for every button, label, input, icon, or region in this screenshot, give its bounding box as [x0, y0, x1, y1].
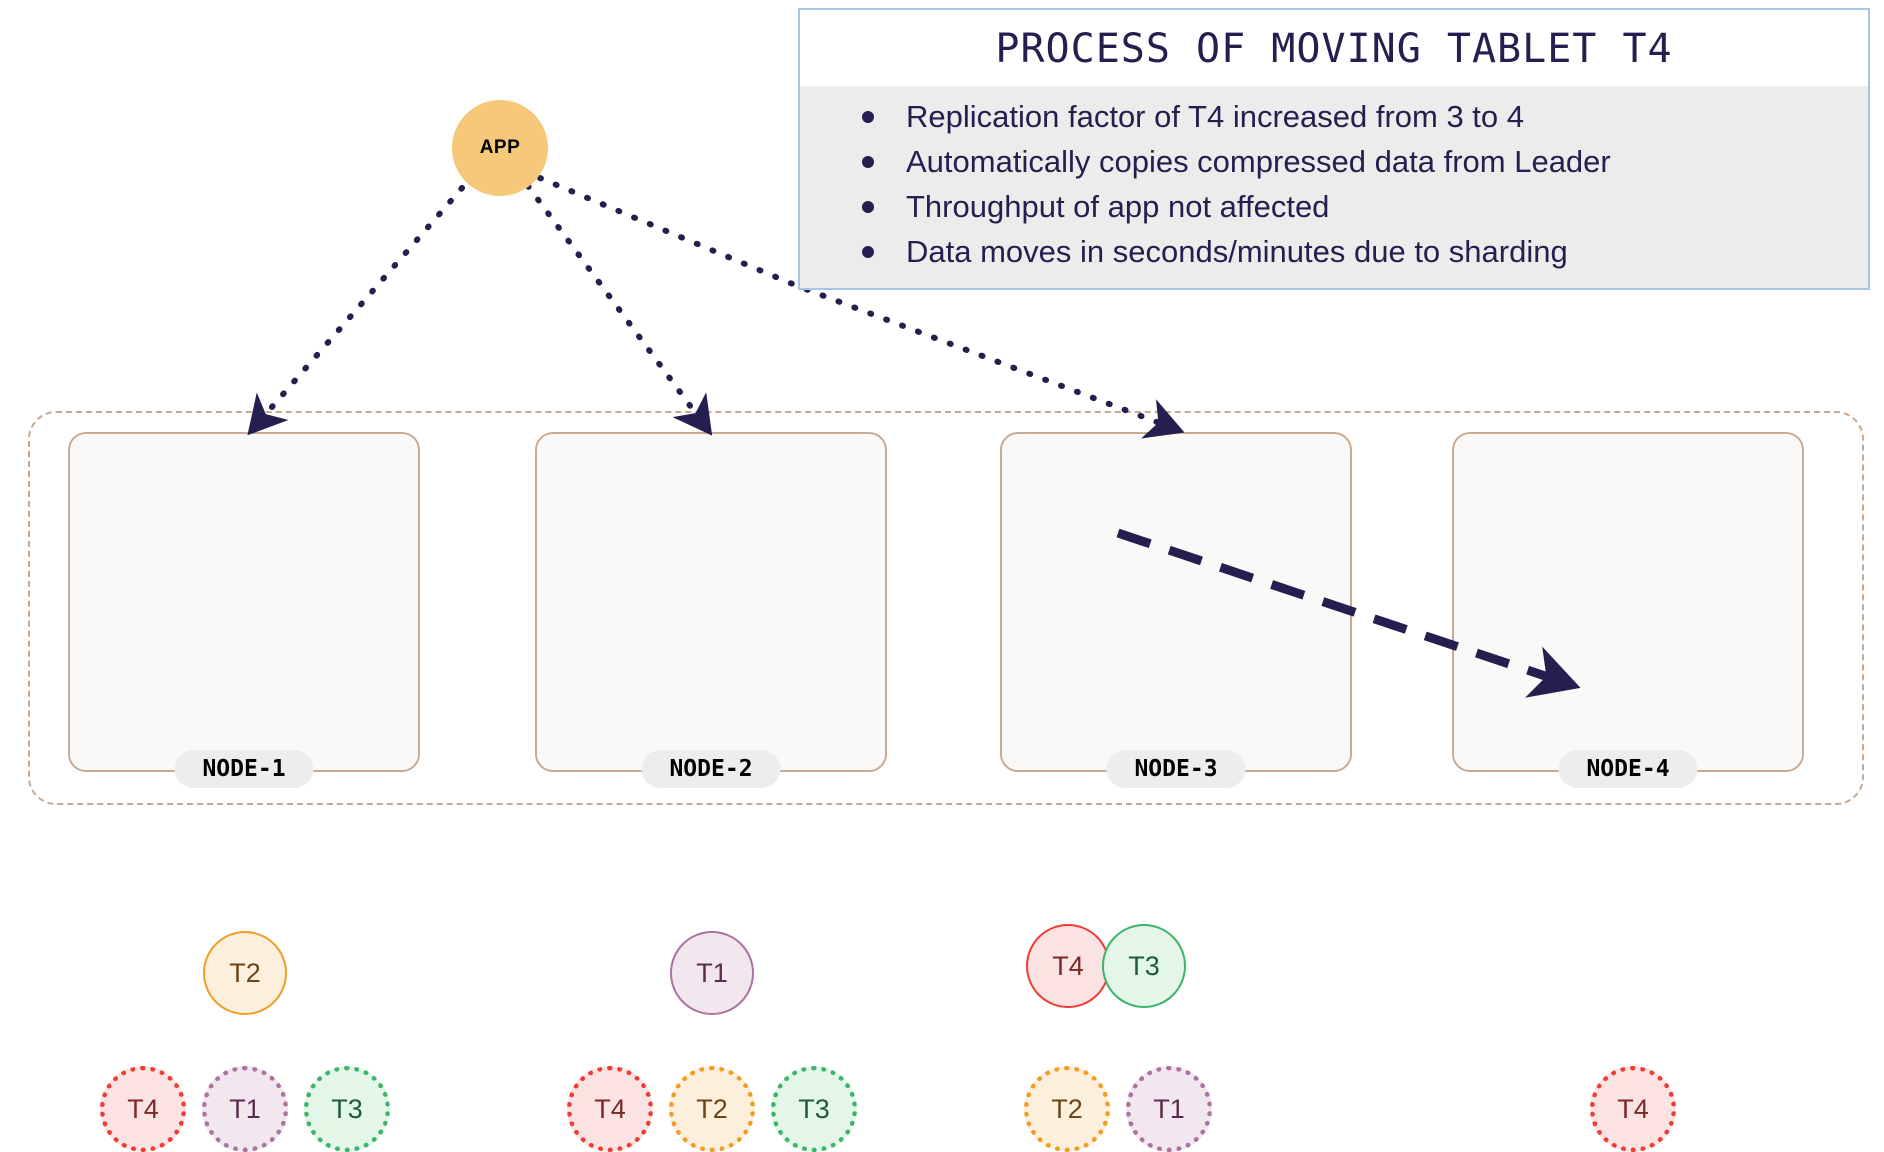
- node-box-4[interactable]: T4 NODE-4: [1452, 432, 1804, 772]
- list-item: Data moves in seconds/minutes due to sha…: [856, 229, 1848, 274]
- node-box-3[interactable]: T4 T3 T2 T1 NODE-3: [1000, 432, 1352, 772]
- tablet-label: T3: [1128, 951, 1160, 982]
- bullet-dot-icon: [862, 201, 874, 213]
- node-label-1: NODE-1: [174, 750, 313, 788]
- tablet-label: T2: [1051, 1094, 1083, 1125]
- bullet-text: Data moves in seconds/minutes due to sha…: [906, 234, 1568, 269]
- node-label-2: NODE-2: [641, 750, 780, 788]
- tablet-follower[interactable]: T3: [771, 1066, 857, 1152]
- bullet-text: Throughput of app not affected: [906, 189, 1329, 224]
- tablet-follower[interactable]: T2: [1024, 1066, 1110, 1152]
- info-panel-bullet-list: Replication factor of T4 increased from …: [800, 94, 1868, 274]
- tablet-label: T4: [1617, 1094, 1649, 1125]
- tablet-label: T3: [798, 1094, 830, 1125]
- tablet-label: T4: [127, 1094, 159, 1125]
- info-panel-title: PROCESS OF MOVING TABLET T4: [800, 10, 1868, 86]
- tablet-follower[interactable]: T4: [100, 1066, 186, 1152]
- tablet-leader[interactable]: T1: [670, 931, 754, 1015]
- tablet-follower[interactable]: T1: [202, 1066, 288, 1152]
- tablet-follower[interactable]: T4: [567, 1066, 653, 1152]
- node-box-2[interactable]: T1 T4 T2 T3 NODE-2: [535, 432, 887, 772]
- bullet-dot-icon: [862, 111, 874, 123]
- node-box-1[interactable]: T2 T4 T1 T3 NODE-1: [68, 432, 420, 772]
- list-item: Throughput of app not affected: [856, 184, 1848, 229]
- tablet-leader[interactable]: T2: [203, 931, 287, 1015]
- list-item: Replication factor of T4 increased from …: [856, 94, 1848, 139]
- bullet-text: Replication factor of T4 increased from …: [906, 99, 1524, 134]
- tablet-follower[interactable]: T1: [1126, 1066, 1212, 1152]
- info-panel: PROCESS OF MOVING TABLET T4 Replication …: [798, 8, 1870, 290]
- tablet-label: T2: [696, 1094, 728, 1125]
- app-to-node2-connector: [528, 186, 708, 430]
- tablet-label: T4: [1052, 951, 1084, 982]
- tablet-follower[interactable]: T3: [304, 1066, 390, 1152]
- app-to-node1-connector: [252, 188, 462, 430]
- tablet-label: T3: [331, 1094, 363, 1125]
- tablet-leader[interactable]: T4: [1026, 924, 1110, 1008]
- tablet-label: T1: [1153, 1094, 1185, 1125]
- tablet-label: T1: [696, 958, 728, 989]
- list-item: Automatically copies compressed data fro…: [856, 139, 1848, 184]
- tablet-label: T1: [229, 1094, 261, 1125]
- bullet-text: Automatically copies compressed data fro…: [906, 144, 1611, 179]
- tablet-label: T2: [229, 958, 261, 989]
- bullet-dot-icon: [862, 156, 874, 168]
- tablet-leader[interactable]: T3: [1102, 924, 1186, 1008]
- node-label-3: NODE-3: [1106, 750, 1245, 788]
- app-node-label: APP: [480, 137, 521, 159]
- info-panel-body: Replication factor of T4 increased from …: [800, 86, 1868, 288]
- tablet-follower[interactable]: T2: [669, 1066, 755, 1152]
- app-node[interactable]: APP: [452, 100, 548, 196]
- node-label-4: NODE-4: [1558, 750, 1697, 788]
- tablet-follower[interactable]: T4: [1590, 1066, 1676, 1152]
- tablet-label: T4: [594, 1094, 626, 1125]
- bullet-dot-icon: [862, 246, 874, 258]
